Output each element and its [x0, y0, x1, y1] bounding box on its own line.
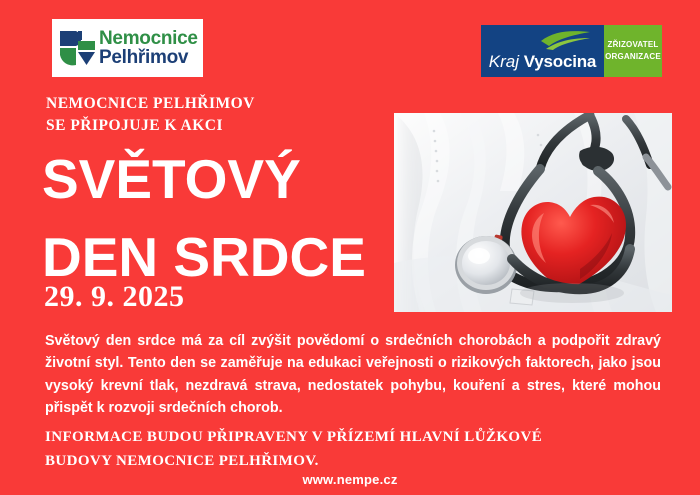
- kraj-badge-line2: ORGANIZACE: [605, 51, 661, 63]
- kraj-logo-word-kraj: Kraj: [489, 52, 519, 71]
- event-date: 29. 9. 2025: [44, 280, 185, 314]
- page-title: SVĚTOVÝ DEN SRDCE: [42, 140, 366, 296]
- website-url[interactable]: www.nempe.cz: [0, 472, 700, 487]
- kraj-logo-badge: ZŘIZOVATEL ORGANIZACE: [604, 25, 662, 77]
- headline-line-1: SVĚTOVÝ: [42, 140, 366, 218]
- kraj-badge-line1: ZŘIZOVATEL: [607, 39, 658, 51]
- hospital-logo-wordmark: Nemocnice Pelhřimov: [99, 29, 198, 68]
- kicker-line-1: NEMOCNICE PELHŘIMOV: [46, 93, 255, 115]
- kraj-logo-blue-panel: Kraj Vysocina: [481, 25, 604, 77]
- kicker-line-2: SE PŘIPOJUJE K AKCI: [46, 115, 255, 137]
- heart-stethoscope-photo: [394, 113, 672, 312]
- hospital-logo-line1: Nemocnice: [99, 29, 198, 48]
- kraj-vysocina-logo: Kraj Vysocina ZŘIZOVATEL ORGANIZACE: [481, 25, 662, 77]
- poster-canvas: Nemocnice Pelhřimov Kraj Vysocina ZŘIZOV…: [0, 0, 700, 495]
- hospital-logo-line2: Pelhřimov: [99, 48, 198, 67]
- info-note: INFORMACE BUDOU PŘIPRAVENY V PŘÍZEMÍ HLA…: [45, 425, 542, 473]
- hospital-logo-mark-icon: [58, 27, 96, 69]
- kraj-swoosh-icon: [540, 30, 592, 50]
- kraj-logo-word-vysocina: Vysocina: [524, 52, 596, 71]
- hospital-logo: Nemocnice Pelhřimov: [52, 19, 203, 77]
- kraj-logo-wordmark: Kraj Vysocina: [489, 53, 596, 70]
- info-note-line-1: INFORMACE BUDOU PŘIPRAVENY V PŘÍZEMÍ HLA…: [45, 425, 542, 449]
- kicker-text: NEMOCNICE PELHŘIMOV SE PŘIPOJUJE K AKCI: [46, 93, 255, 138]
- info-note-line-2: BUDOVY NEMOCNICE PELHŘIMOV.: [45, 449, 542, 473]
- body-paragraph: Světový den srdce má za cíl zvýšit pověd…: [45, 330, 661, 419]
